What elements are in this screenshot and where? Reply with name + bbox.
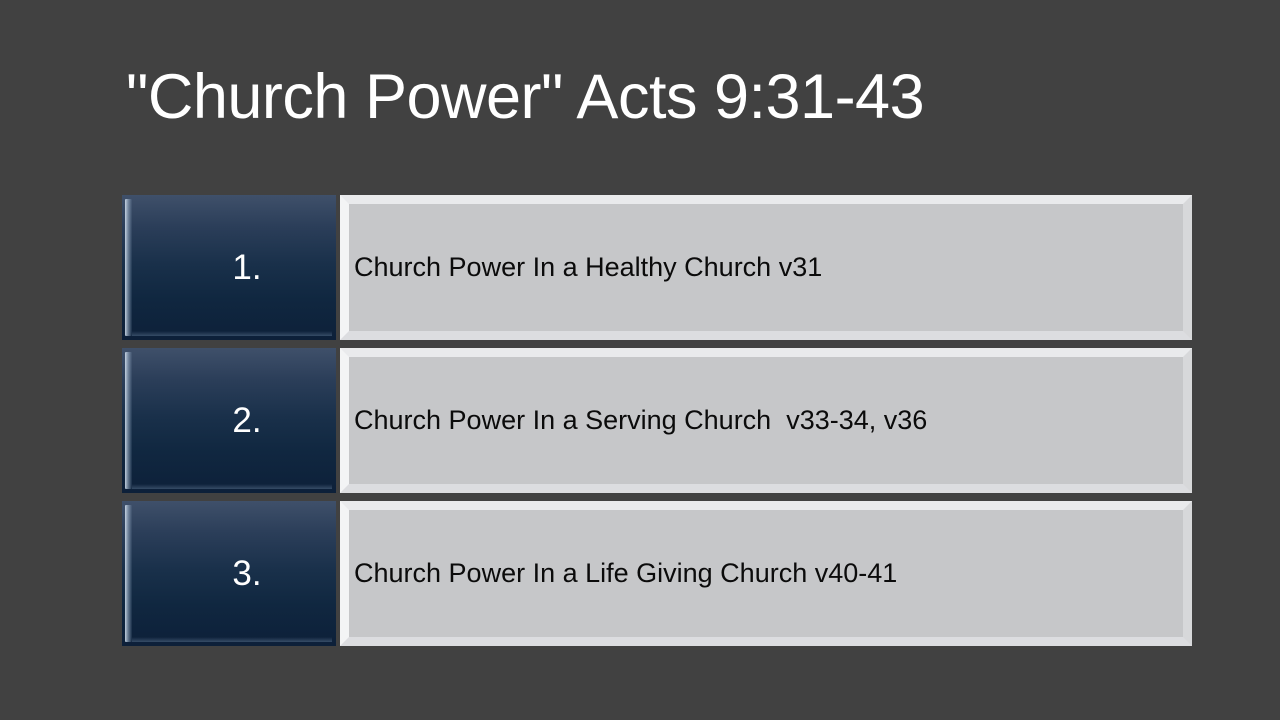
list-item-text-panel: Church Power In a Serving Church v33-34,…: [340, 348, 1192, 493]
list-item-number-cell: 1.: [122, 195, 336, 340]
list-item-text-panel: Church Power In a Life Giving Church v40…: [340, 501, 1192, 646]
list-item-number-cell: 3.: [122, 501, 336, 646]
list-item[interactable]: 3. Church Power In a Life Giving Church …: [122, 501, 1192, 646]
list-item-number-cell: 2.: [122, 348, 336, 493]
slide-title: "Church Power" Acts 9:31-43: [126, 62, 1156, 133]
list-item-text: Church Power In a Healthy Church v31: [349, 251, 822, 285]
list-item-number: 3.: [232, 554, 261, 594]
outline-list: 1. Church Power In a Healthy Church v31 …: [122, 195, 1192, 646]
list-item[interactable]: 1. Church Power In a Healthy Church v31: [122, 195, 1192, 340]
list-item-text: Church Power In a Serving Church v33-34,…: [349, 404, 927, 438]
list-item-number: 1.: [232, 248, 261, 288]
list-item-text-panel: Church Power In a Healthy Church v31: [340, 195, 1192, 340]
list-item[interactable]: 2. Church Power In a Serving Church v33-…: [122, 348, 1192, 493]
list-item-number: 2.: [232, 401, 261, 441]
list-item-text: Church Power In a Life Giving Church v40…: [349, 557, 897, 591]
